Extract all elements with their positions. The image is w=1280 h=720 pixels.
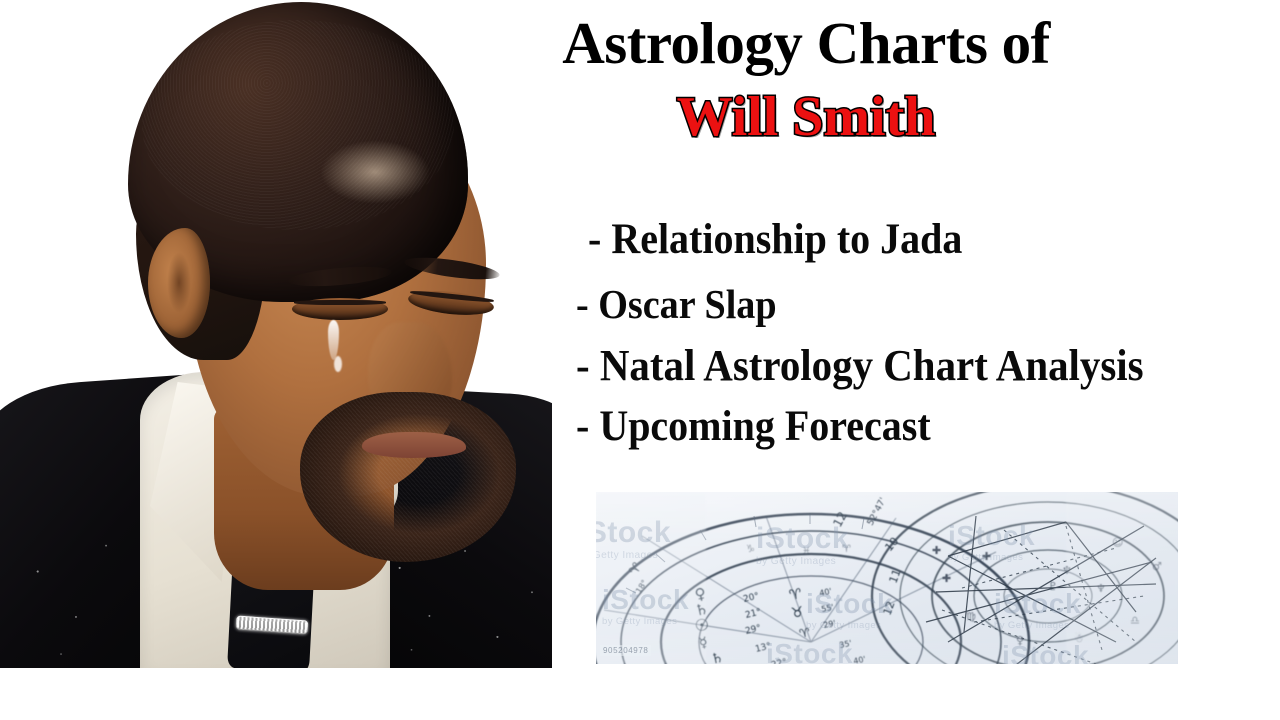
page-title-line-2: Will Smith: [486, 88, 1126, 147]
slide-canvas: Astrology Charts of Will Smith - Relatio…: [0, 0, 1280, 720]
eyelash-left: [294, 300, 386, 305]
astrology-wheel-graphic: ♈ 18° ♀ ♄ ☉ ☿ ♄ 20° 21° 29° 13° 22° ♈ ♉ …: [596, 492, 1178, 664]
svg-text:♍: ♍: [966, 610, 976, 623]
svg-text:♑: ♑: [746, 544, 755, 555]
mouth: [362, 432, 466, 458]
will-smith-photo: [0, 0, 552, 668]
svg-text:✚: ✚: [942, 572, 951, 585]
photo-subject: [0, 0, 552, 668]
topic-list: - Relationship to Jada - Oscar Slap - Na…: [576, 218, 1276, 448]
svg-text:♇: ♇: [1048, 580, 1058, 593]
list-item: - Oscar Slap: [576, 284, 1227, 326]
svg-text:✚: ✚: [932, 544, 941, 557]
stock-photo-id: 905204978: [600, 645, 651, 656]
svg-text:✚: ✚: [982, 550, 991, 563]
list-item: - Relationship to Jada: [588, 218, 1228, 262]
page-title-line-1: Astrology Charts of: [486, 12, 1126, 75]
svg-text:♈: ♈: [842, 544, 851, 555]
list-item: - Natal Astrology Chart Analysis: [576, 344, 1227, 389]
forehead-highlight: [320, 140, 430, 204]
svg-text:♓: ♓: [802, 546, 811, 557]
tear-streak-icon: [334, 356, 342, 372]
astrology-chart-image: ♈ 18° ♀ ♄ ☉ ☿ ♄ 20° 21° 29° 13° 22° ♈ ♉ …: [596, 492, 1178, 664]
ear: [148, 228, 210, 338]
svg-text:♀: ♀: [1016, 634, 1024, 647]
list-item: - Upcoming Forecast: [576, 405, 1227, 449]
svg-text:40': 40': [853, 655, 867, 664]
